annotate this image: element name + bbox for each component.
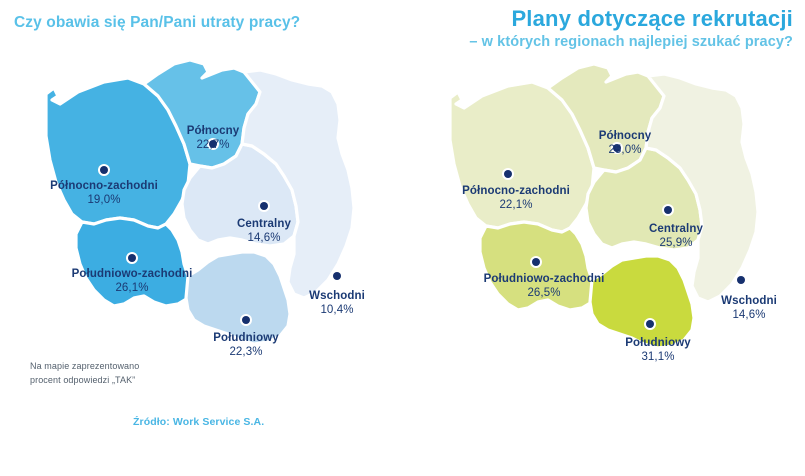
page-title-right: Plany dotyczące rekrutacji – w których r… bbox=[469, 6, 793, 51]
page-title-left: Czy obawia się Pan/Pani utraty pracy? bbox=[14, 14, 300, 32]
region-poludniowy[interactable] bbox=[186, 252, 290, 344]
source-left: Źródło: Work Service S.A. bbox=[133, 416, 264, 428]
region-poludniowy[interactable] bbox=[590, 256, 694, 348]
panel-unemployment-fear: Czy obawia się Pan/Pani utraty pracy? bbox=[0, 0, 400, 442]
panel-recruitment-plans: Plany dotyczące rekrutacji – w których r… bbox=[400, 0, 805, 442]
map-poland-recruitment-plans bbox=[412, 52, 802, 392]
map-poland-unemployment-fear bbox=[8, 48, 398, 388]
footnote-left: Na mapie zaprezentowano procent odpowied… bbox=[30, 360, 139, 388]
